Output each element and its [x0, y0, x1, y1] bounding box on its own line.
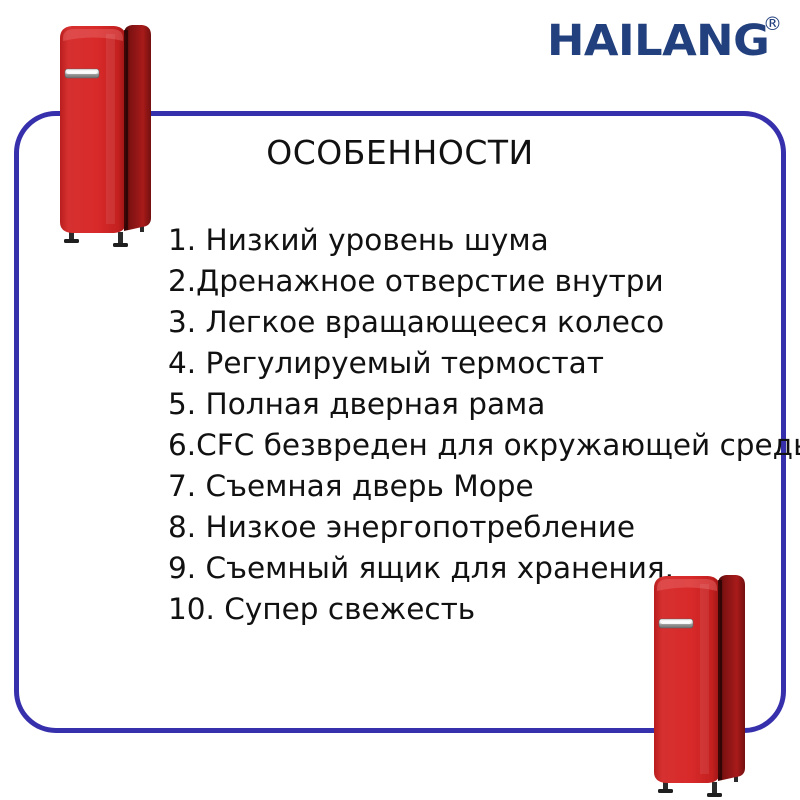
list-item: 3. Легкое вращающееся колесо [168, 302, 788, 343]
list-item: 2.Дренажное отверстие внутри [168, 261, 788, 302]
list-item: 4. Регулируемый термостат [168, 343, 788, 384]
retro-refrigerator-top-left [54, 22, 166, 250]
brand-wordmark: HAILANG [547, 20, 769, 63]
slide-canvas: HAILANG ® ОСОБЕННОСТИ 1. Низкий уровень … [0, 0, 800, 800]
list-item: 6.CFC безвреден для окружающей среды [168, 425, 788, 466]
brand-logo: HAILANG ® [547, 20, 782, 63]
list-item: 1. Низкий уровень шума [168, 220, 788, 261]
list-item: 7. Съемная дверь Море [168, 466, 788, 507]
features-list: 1. Низкий уровень шума 2.Дренажное отвер… [168, 220, 788, 630]
list-item: 5. Полная дверная рама [168, 384, 788, 425]
retro-refrigerator-bottom-right [648, 572, 760, 800]
list-item: 8. Низкое энергопотребление [168, 507, 788, 548]
